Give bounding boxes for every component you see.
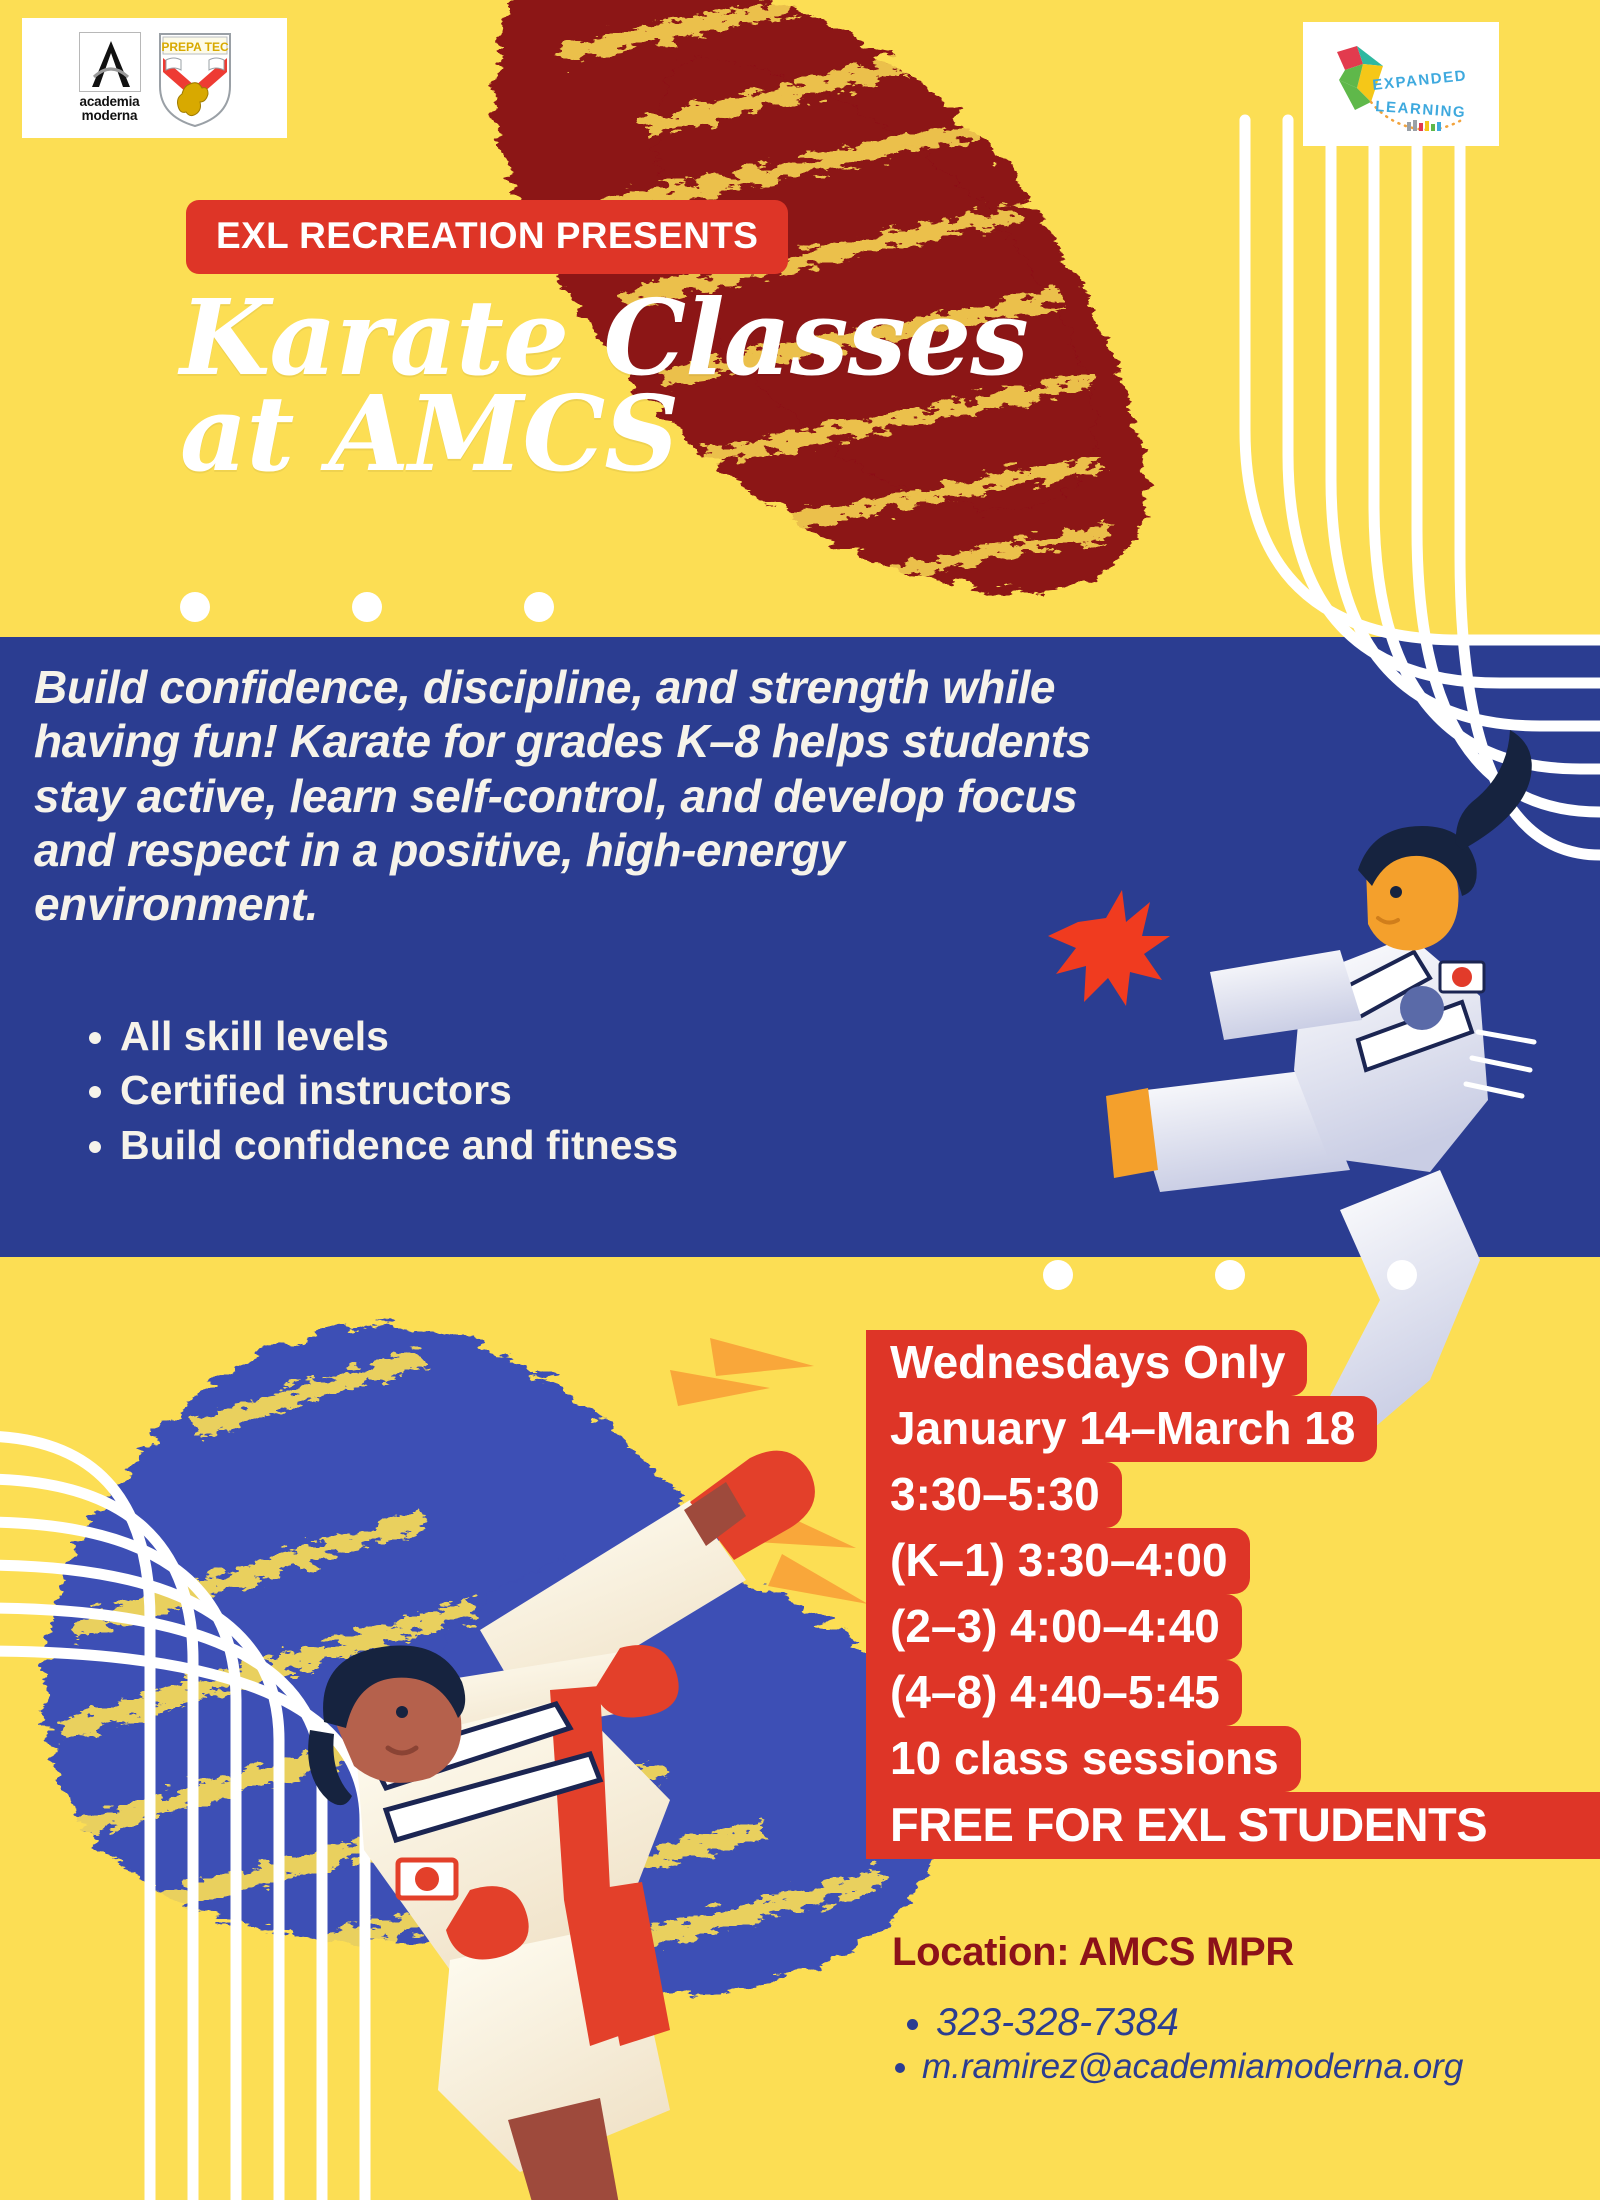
schedule-block: Wednesdays Only January 14–March 18 3:30… (866, 1330, 1600, 1859)
schedule-row: (4–8) 4:40–5:45 (866, 1660, 1242, 1726)
decor-dot (524, 592, 554, 622)
decor-dot (1215, 1260, 1245, 1290)
academia-a-icon (79, 32, 141, 92)
decor-dot (1043, 1260, 1073, 1290)
page-title: Karate Classes at AMCS (180, 290, 1180, 481)
schedule-row: (2–3) 4:00–4:40 (866, 1594, 1242, 1660)
schedule-row: 10 class sessions (866, 1726, 1301, 1792)
list-item: Certified instructors (120, 1064, 698, 1116)
title-line-2: at AMCS (180, 386, 1180, 482)
benefits-list: All skill levels Certified instructors B… (78, 1010, 698, 1173)
svg-text:PREPA TEC: PREPA TEC (161, 40, 229, 54)
decor-dot (352, 592, 382, 622)
schedule-row: Wednesdays Only (866, 1330, 1307, 1396)
schedule-row: 3:30–5:30 (866, 1462, 1122, 1528)
email-address[interactable]: m.ramirez@academiamoderna.org (922, 2046, 1600, 2087)
prepa-tec-shield-icon: PREPA TEC (154, 28, 236, 128)
description-paragraph: Build confidence, discipline, and streng… (34, 660, 1094, 931)
schedule-row: (K–1) 3:30–4:00 (866, 1528, 1250, 1594)
contact-list: 323-328-7384 m.ramirez@academiamoderna.o… (900, 2000, 1600, 2087)
phone-number[interactable]: 323-328-7384 (936, 2000, 1600, 2046)
expanded-learning-logo: EXPANDED LEARNING (1303, 22, 1499, 146)
academia-moderna-wordmark: academia moderna (80, 95, 140, 124)
decor-dot (1387, 1260, 1417, 1290)
list-item: Build confidence and fitness (120, 1119, 698, 1171)
academia-moderna-prepa-tec-logo: academia moderna PREPA TEC (22, 18, 287, 138)
poster-root: academia moderna PREPA TEC (0, 0, 1600, 2200)
schedule-row: January 14–March 18 (866, 1396, 1377, 1462)
exl-presents-badge: EXL RECREATION PRESENTS (186, 200, 788, 274)
free-highlight-row: FREE FOR EXL STUDENTS (866, 1792, 1600, 1859)
location-text: Location: AMCS MPR (892, 1930, 1294, 1975)
list-item: All skill levels (120, 1010, 698, 1062)
academia-moderna-mark: academia moderna (74, 32, 146, 124)
decor-dot (180, 592, 210, 622)
